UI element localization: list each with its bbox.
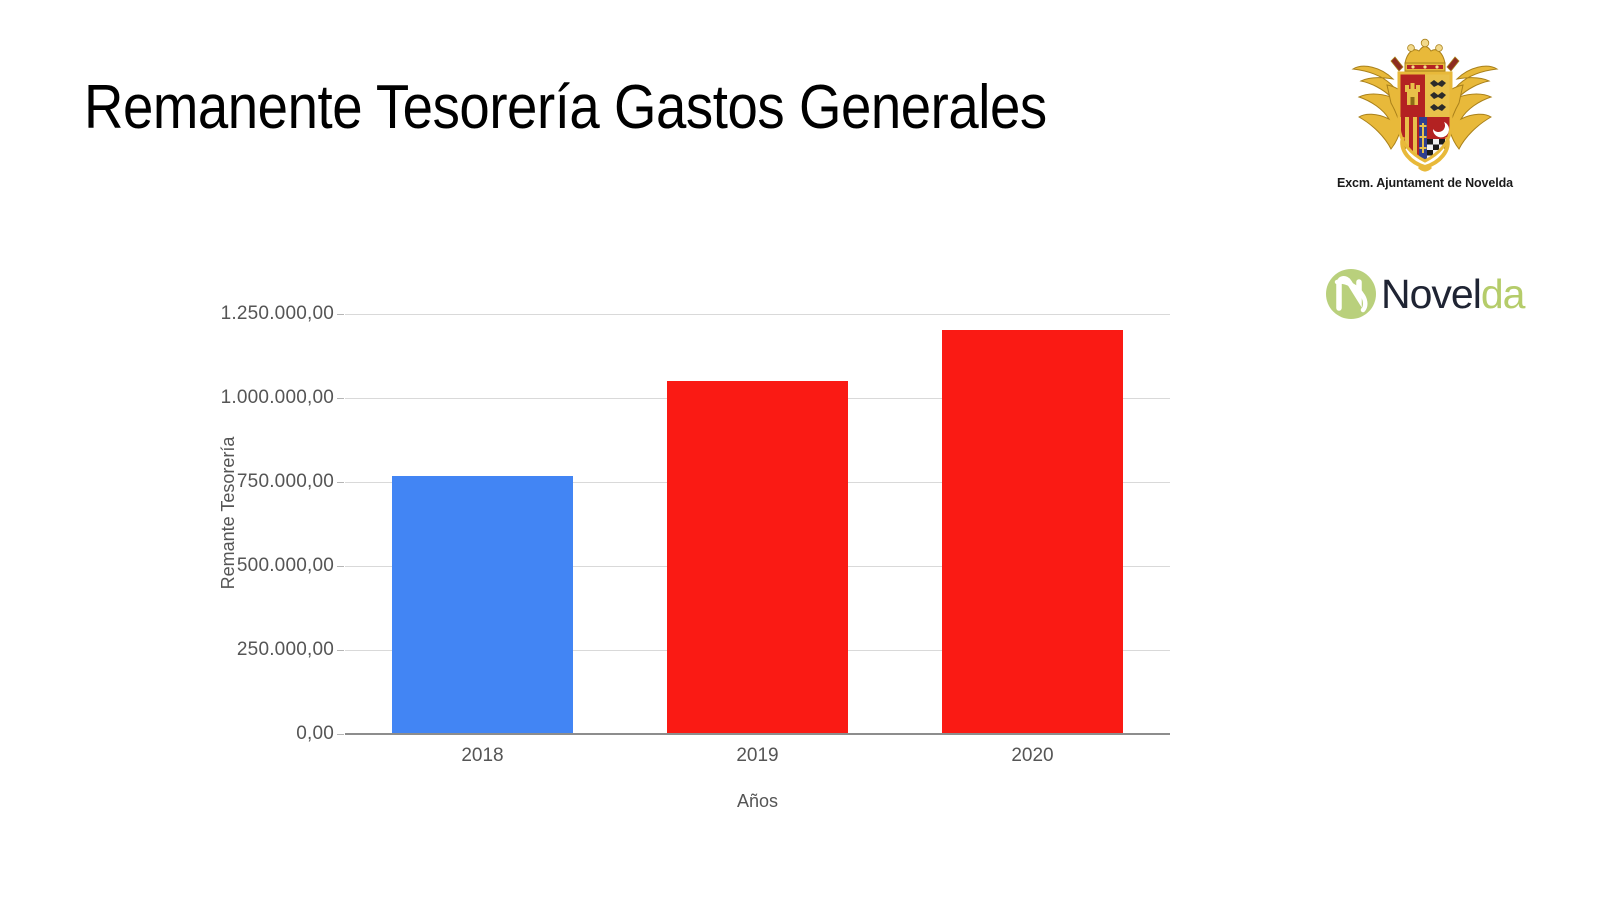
- novelda-logo: Novelda: [1325, 268, 1524, 320]
- novelda-wordmark: Novelda: [1381, 274, 1524, 315]
- y-tick-mark: [337, 734, 344, 735]
- novelda-wordmark-green: da: [1481, 271, 1525, 317]
- y-gridline: [345, 734, 1170, 735]
- novelda-wordmark-dark: Novel: [1381, 271, 1481, 317]
- y-gridline: [345, 314, 1170, 315]
- x-tick-label-2019: 2019: [736, 745, 778, 767]
- novelda-circle-mark-icon: [1325, 268, 1377, 320]
- y-axis-title: Remante Tesorería: [218, 436, 239, 589]
- y-tick-label: 1.250.000,00: [221, 303, 334, 325]
- novelda-coat-of-arms-icon: [1335, 33, 1515, 173]
- bar-2019[interactable]: [667, 381, 847, 733]
- y-tick-label: 250.000,00: [237, 639, 334, 661]
- coat-of-arms-caption: Excm. Ajuntament de Novelda: [1335, 176, 1515, 190]
- y-tick-label: 500.000,00: [237, 555, 334, 577]
- bar-2020[interactable]: [942, 330, 1122, 733]
- y-tick-mark: [337, 566, 344, 567]
- bar-chart: Remante Tesorería Años 0,00250.000,00500…: [0, 0, 1250, 900]
- x-tick-label-2020: 2020: [1011, 745, 1053, 767]
- y-tick-mark: [337, 314, 344, 315]
- y-tick-label: 750.000,00: [237, 471, 334, 493]
- bar-2018[interactable]: [392, 476, 572, 733]
- x-axis-title: Años: [737, 791, 778, 812]
- y-tick-mark: [337, 650, 344, 651]
- slide-root: Remanente Tesorería Gastos Generales: [0, 0, 1600, 900]
- y-tick-mark: [337, 398, 344, 399]
- y-tick-mark: [337, 482, 344, 483]
- x-tick-label-2018: 2018: [461, 745, 503, 767]
- y-tick-label: 1.000.000,00: [221, 387, 334, 409]
- y-tick-label: 0,00: [296, 723, 334, 745]
- chart-plot-area: Remante Tesorería Años 0,00250.000,00500…: [345, 291, 1170, 734]
- coat-of-arms-block: Excm. Ajuntament de Novelda: [1335, 33, 1515, 190]
